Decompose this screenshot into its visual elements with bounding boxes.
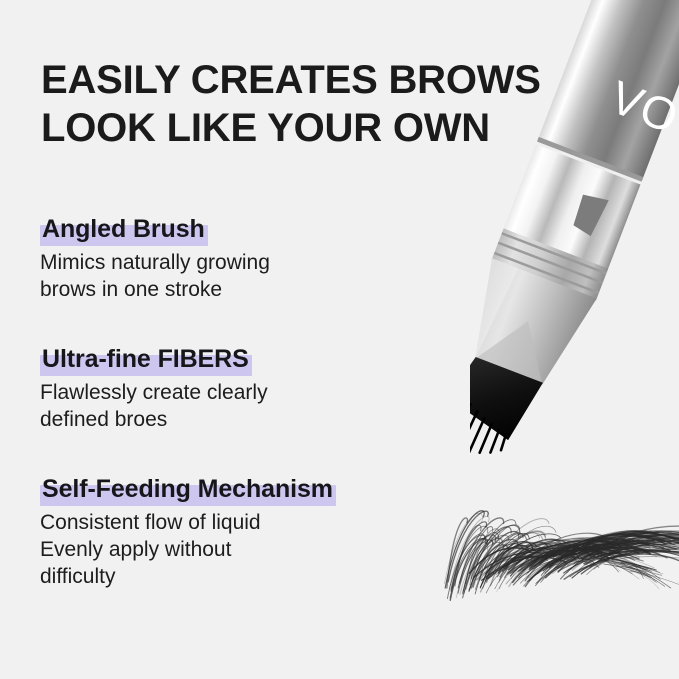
pen-cone [470, 258, 597, 391]
pen-ferrule [491, 228, 608, 300]
promo-image: EASILY CREATES BROWS LOOK LIKE YOUR OWN … [0, 0, 679, 679]
feature-heading: Ultra-fine FIBERS [40, 344, 252, 374]
pen-barrel [503, 144, 641, 270]
feature-heading: Angled Brush [40, 214, 208, 244]
feature-block-ultra-fine-fibers: Ultra-fine FIBERS Flawlessly create clea… [40, 344, 268, 433]
svg-text:VO: VO [604, 70, 679, 143]
eyebrow-hairstroke-illustration [438, 496, 679, 628]
pen-cap [537, 0, 679, 181]
barrel-marking [570, 191, 609, 238]
page-title: EASILY CREATES BROWS LOOK LIKE YOUR OWN [41, 56, 541, 152]
feature-body: Flawlessly create clearly defined broes [40, 379, 268, 433]
pen-logo: VO [604, 70, 679, 143]
feature-body: Mimics naturally growing brows in one st… [40, 249, 270, 303]
feature-block-self-feeding-mechanism: Self-Feeding Mechanism Consistent flow o… [40, 474, 336, 590]
feature-block-angled-brush: Angled Brush Mimics naturally growing br… [40, 214, 270, 303]
feature-body: Consistent flow of liquid Evenly apply w… [40, 509, 336, 590]
feature-heading: Self-Feeding Mechanism [40, 474, 336, 504]
pen-brush-tip [470, 353, 543, 466]
